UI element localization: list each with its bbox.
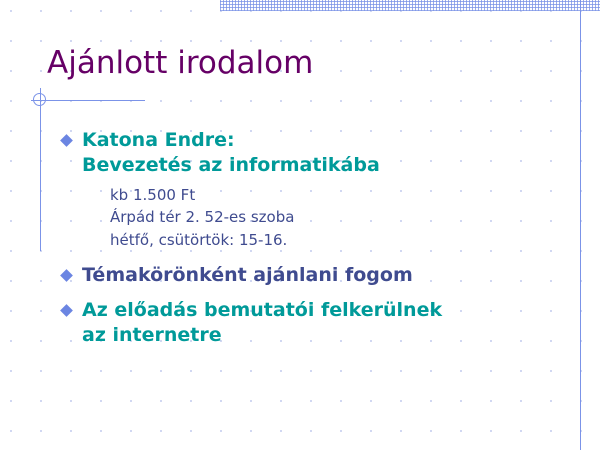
sublist-line-price: kb 1.500 Ft — [110, 184, 562, 206]
slide-title: Ajánlott irodalom — [47, 46, 313, 80]
bullet-item-1: Katona Endre: Bevezetés az informatikába — [62, 128, 562, 178]
presentation-slide: Ajánlott irodalom Katona Endre: Bevezeté… — [0, 0, 600, 450]
sublist-line-hours: hétfő, csütörtök: 15-16. — [110, 229, 562, 251]
right-vertical-rule — [580, 0, 581, 450]
bullet-item-2-label: Témakörönként ajánlani fogom — [82, 263, 413, 288]
diamond-bullet-icon — [60, 269, 73, 282]
bullet-item-2: Témakörönként ajánlani fogom — [62, 263, 562, 288]
sublist-line-address: Árpád tér 2. 52-es szoba — [110, 206, 562, 228]
top-right-tint-block — [220, 0, 600, 11]
bullet-item-1-label: Katona Endre: Bevezetés az informatikába — [82, 128, 380, 178]
diamond-bullet-icon — [60, 134, 73, 147]
spacer-2 — [62, 288, 562, 298]
spacer-1 — [62, 251, 562, 263]
circle-ornament-icon — [33, 93, 46, 106]
title-underline-rule — [31, 100, 145, 101]
bullet-item-3: Az előadás bemutatói felkerülnek az inte… — [62, 298, 562, 348]
slide-body: Katona Endre: Bevezetés az informatikába… — [62, 128, 562, 348]
bullet-item-3-label: Az előadás bemutatói felkerülnek az inte… — [82, 298, 442, 348]
diamond-bullet-icon — [60, 304, 73, 317]
left-vertical-rule — [40, 88, 41, 251]
bullet-item-1-sublist: kb 1.500 Ft Árpád tér 2. 52-es szoba hét… — [110, 184, 562, 251]
